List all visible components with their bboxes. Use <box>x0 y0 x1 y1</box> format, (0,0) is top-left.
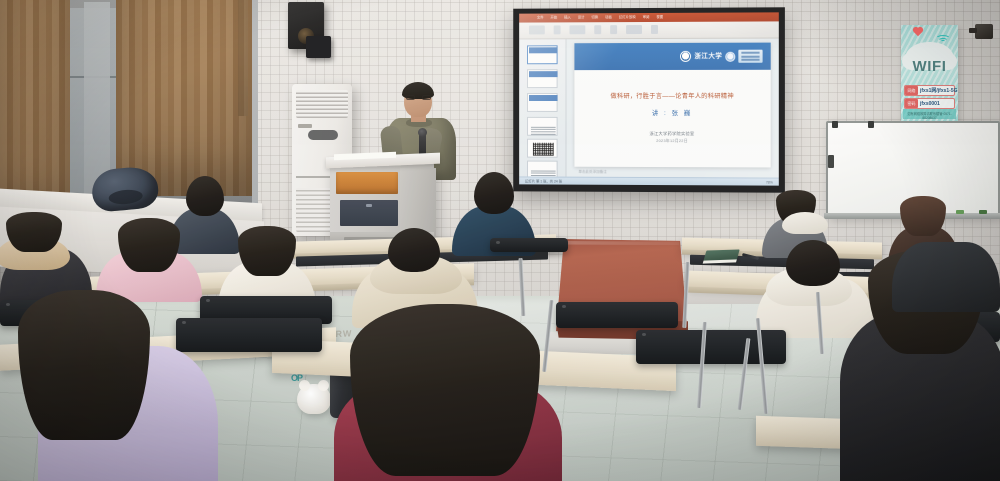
ppt-toolbar <box>519 21 779 39</box>
wifi-ssid-label: 网络 <box>905 86 918 95</box>
ppt-tab-slideshow[interactable]: 幻灯片放映 <box>619 14 636 21</box>
student-row3-darkred <box>326 304 566 481</box>
slide-organization: 浙江大学药学院实验室 <box>574 131 770 137</box>
bold-button[interactable] <box>594 25 601 34</box>
ppt-tab-home[interactable]: 开始 <box>550 14 557 21</box>
ac-display-panel <box>308 130 338 140</box>
ppt-tab-insert[interactable]: 插入 <box>564 14 571 21</box>
slide-thumbnail[interactable] <box>527 69 558 88</box>
align-button[interactable] <box>651 25 658 34</box>
curtain-center <box>116 0 252 196</box>
wifi-heading: WIFI <box>901 58 958 75</box>
projection-screen: 文件 开始 插入 设计 切换 动画 幻灯片放映 审阅 视图 <box>513 7 785 192</box>
slide-title: 做科研，行胜于言——论青年人的科研精神 <box>574 91 770 100</box>
slide-thumbnail[interactable] <box>527 93 558 112</box>
head <box>474 172 514 214</box>
podium-drawer[interactable] <box>340 200 398 226</box>
ppt-tab-review[interactable]: 审阅 <box>643 14 650 21</box>
student-row3-lavender <box>18 290 218 481</box>
wifi-signal-icon <box>934 28 951 43</box>
hair <box>238 226 296 276</box>
thumb-header-band <box>529 71 558 77</box>
slide-thumbnail[interactable] <box>527 117 558 136</box>
shapes-button[interactable] <box>626 25 642 34</box>
wifi-password-value: jfxs0001 <box>920 101 940 107</box>
jacket <box>892 242 1000 312</box>
slide-logos: 浙江大学 <box>680 50 762 63</box>
slide-thumbnail[interactable] <box>527 45 558 64</box>
ppt-tab-animation[interactable]: 动画 <box>605 14 612 21</box>
lab-seal-icon <box>725 51 735 61</box>
head <box>186 176 224 216</box>
hair <box>6 212 62 252</box>
ppt-tab-transition[interactable]: 切换 <box>591 14 598 21</box>
head <box>786 240 840 286</box>
hair <box>118 218 180 272</box>
bottle-brand-mark: OP <box>291 373 309 383</box>
university-seal-icon <box>680 51 691 62</box>
slide-canvas[interactable]: 浙江大学 做科研，行胜于言——论青年人的科研精神 讲 : 张 巍 浙江大学药学院… <box>574 43 770 168</box>
whiteboard-hinge <box>832 121 838 128</box>
whiteboard-clip <box>828 155 834 168</box>
glasses-icon <box>406 95 431 100</box>
wifi-footer-text: 如有网络故障请联系楼管·0571-88208637 <box>901 111 958 120</box>
ac-brand-mark <box>298 124 312 128</box>
slide-thumbnail-rail[interactable] <box>519 39 566 176</box>
paste-button[interactable] <box>529 25 545 34</box>
wifi-password-row: 密码 jfxs0001 <box>904 98 955 109</box>
chair-row2-center <box>556 302 678 328</box>
chair-row1-center <box>490 238 568 252</box>
wifi-ssid-value: jfxs1网/jfxs1-5G <box>920 87 958 94</box>
lab-logo <box>738 50 762 63</box>
notebook <box>703 249 739 261</box>
hood <box>782 212 828 234</box>
font-selector[interactable] <box>569 25 585 34</box>
notes-placeholder[interactable]: 单击此处添加备注 <box>578 170 607 175</box>
powerpoint-window: 文件 开始 插入 设计 切换 动画 幻灯片放映 审阅 视图 <box>519 12 779 185</box>
italic-button[interactable] <box>610 25 617 34</box>
ppt-toolbar-buttons <box>529 25 658 35</box>
slide-thumbnail[interactable] <box>527 139 558 158</box>
ac-top-grill <box>296 90 348 118</box>
podium-wood-panel <box>336 172 398 194</box>
curtain-right <box>238 0 248 116</box>
thumb-header-band <box>529 95 558 101</box>
student-row2-pink <box>96 218 202 298</box>
university-name: 浙江大学 <box>694 51 722 62</box>
new-slide-button[interactable] <box>554 25 561 34</box>
hair <box>350 304 540 476</box>
whiteboard-hinge <box>868 121 874 128</box>
zoom-level[interactable]: 78% <box>766 179 773 186</box>
ppt-tab-file[interactable]: 文件 <box>537 15 544 22</box>
slide-date: 2023年12月22日 <box>574 139 770 144</box>
heart-icon <box>914 28 922 36</box>
ppt-tab-design[interactable]: 设计 <box>578 14 585 21</box>
classroom-photo: 文件 开始 插入 设计 切换 动画 幻灯片放映 审阅 视图 <box>0 0 1000 481</box>
thumb-header-band <box>529 47 558 53</box>
wifi-poster: WIFI 网络 jfxs1网/jfxs1-5G 密码 jfxs0001 如有网络… <box>901 25 958 123</box>
slide-header-band: 浙江大学 <box>574 43 770 71</box>
ppt-status-bar: 幻灯片 第 1 张，共 24 张 78% <box>519 176 779 185</box>
head <box>388 228 440 272</box>
hair <box>18 290 150 440</box>
ppt-ribbon-tabs: 文件 开始 插入 设计 切换 动画 幻灯片放映 审阅 视图 <box>537 14 663 22</box>
wifi-password-label: 密码 <box>905 99 918 108</box>
speaker-bracket <box>306 36 331 58</box>
ceiling-camera-mount-icon <box>975 24 993 39</box>
student-right-upper <box>892 196 1000 306</box>
slide-speaker-line: 讲 : 张 巍 <box>574 108 770 117</box>
wifi-ssid-row: 网络 jfxs1网/jfxs1-5G <box>904 85 955 96</box>
chair-row3-right <box>636 330 786 364</box>
ppt-tab-view[interactable]: 视图 <box>656 14 663 21</box>
